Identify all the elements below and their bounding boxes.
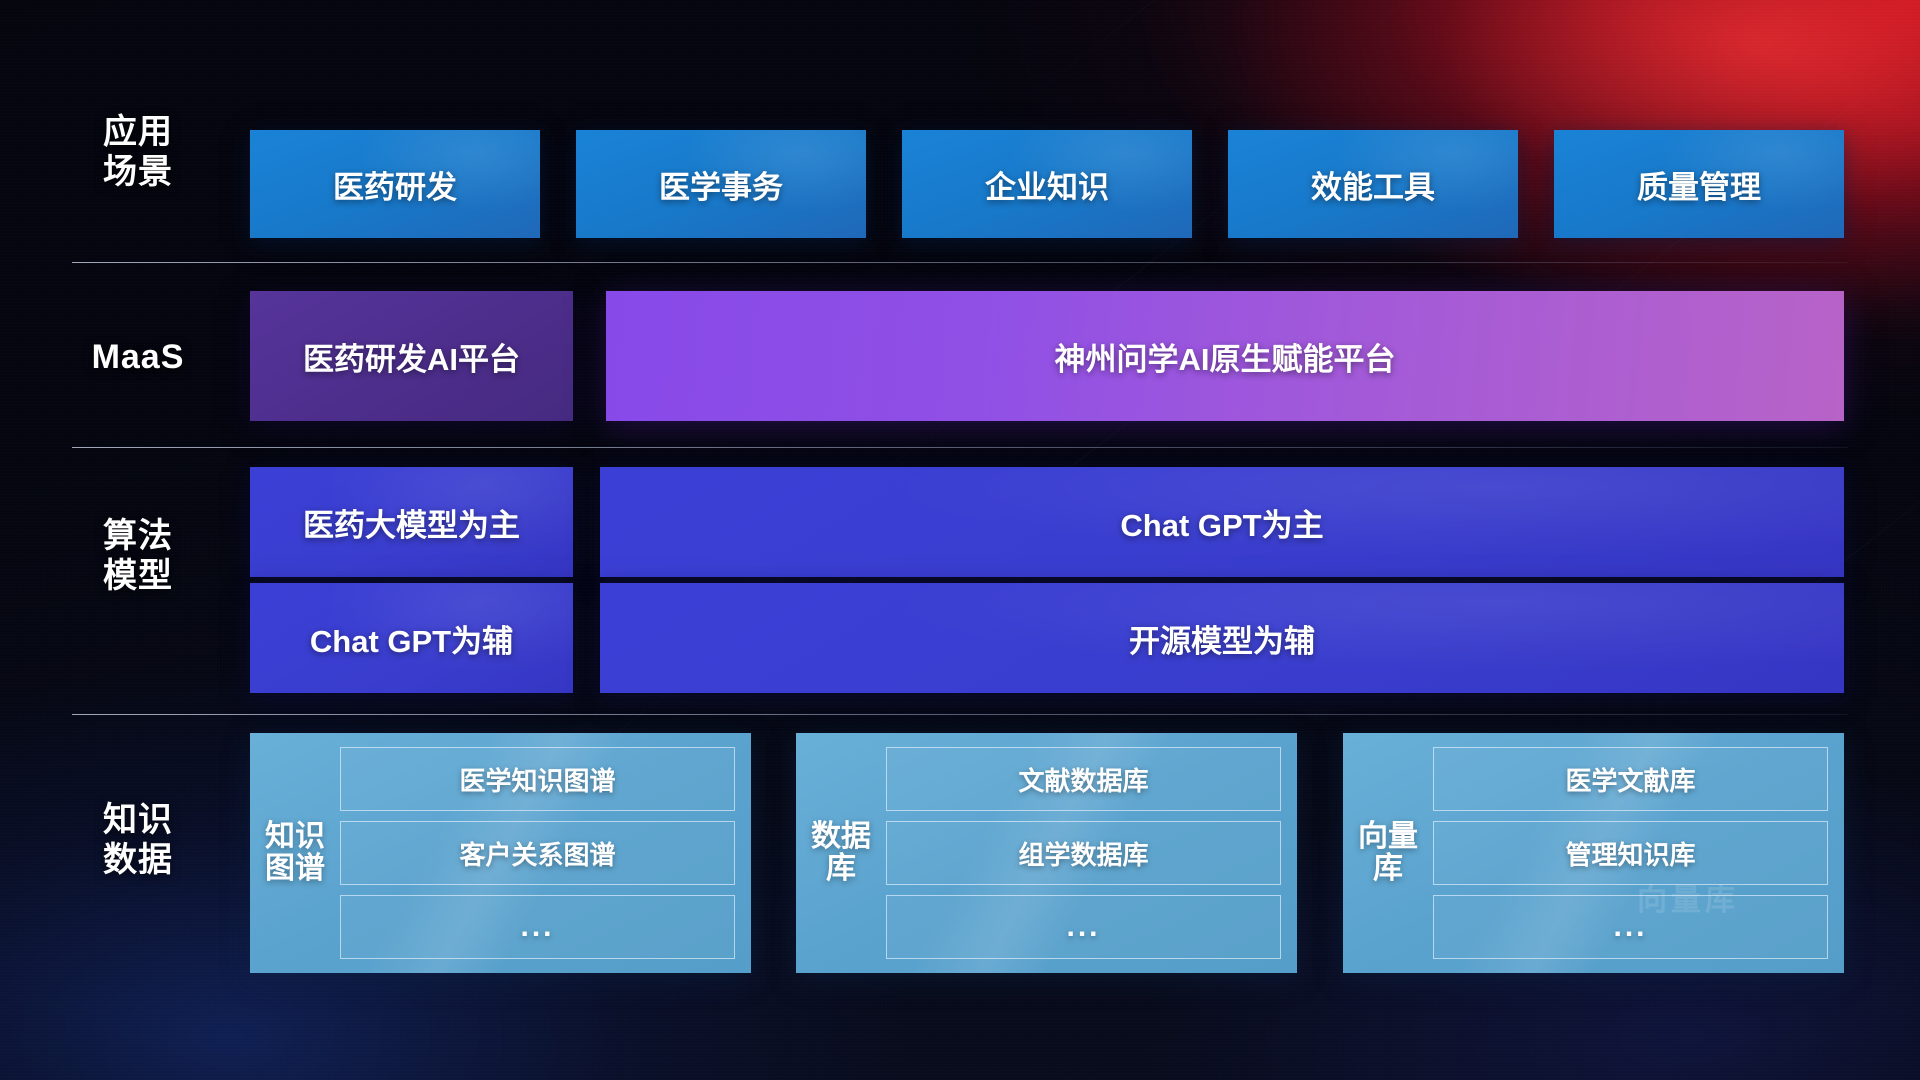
knowledge-group-database-label: 数据库: [810, 747, 872, 959]
knowledge-group-database-items: 文献数据库 组学数据库 ...: [886, 747, 1281, 959]
algorithm-box-row1-left-label: 医药大模型为主: [303, 500, 520, 545]
architecture-diagram: 应用 场景 医药研发 医学事务 企业知识 效能工具 质量管理 MaaS 医药研发…: [0, 0, 1920, 1080]
knowledge-item-database-1[interactable]: 文献数据库: [886, 747, 1281, 811]
algorithm-box-row2-right-label: 开源模型为辅: [1129, 616, 1315, 661]
knowledge-item-graph-2[interactable]: 客户关系图谱: [340, 821, 735, 885]
scenario-box-5-label: 质量管理: [1637, 162, 1761, 207]
knowledge-item-vector-3[interactable]: ...: [1433, 895, 1828, 959]
divider-algorithm-knowledge: [72, 714, 1848, 715]
knowledge-group-graph-label: 知识图谱: [264, 747, 326, 959]
scenario-box-1-label: 医药研发: [333, 162, 457, 207]
scenario-box-4-label: 效能工具: [1311, 162, 1435, 207]
scenario-box-1[interactable]: 医药研发: [250, 130, 540, 238]
row-label-knowledge: 知识 数据: [72, 800, 204, 880]
algorithm-box-row2-left[interactable]: Chat GPT为辅: [250, 583, 573, 693]
knowledge-item-database-2[interactable]: 组学数据库: [886, 821, 1281, 885]
algorithm-box-row1-left[interactable]: 医药大模型为主: [250, 467, 573, 577]
scenario-box-2-label: 医学事务: [659, 162, 783, 207]
algorithm-box-row2-right[interactable]: 开源模型为辅: [600, 583, 1844, 693]
knowledge-group-vector-items: 医学文献库 管理知识库 ...: [1433, 747, 1828, 959]
row-label-maas: MaaS: [72, 337, 204, 377]
knowledge-item-graph-3[interactable]: ...: [340, 895, 735, 959]
algorithm-box-row2-left-label: Chat GPT为辅: [310, 616, 513, 661]
divider-maas-algorithm: [72, 447, 1848, 448]
scenario-box-3-label: 企业知识: [985, 162, 1109, 207]
knowledge-group-graph-items: 医学知识图谱 客户关系图谱 ...: [340, 747, 735, 959]
row-label-algorithm: 算法 模型: [72, 516, 204, 596]
scenario-box-5[interactable]: 质量管理: [1554, 130, 1844, 238]
maas-box-shenzhou-platform-label: 神州问学AI原生赋能平台: [1055, 334, 1396, 379]
knowledge-group-vector-label: 向量库: [1357, 747, 1419, 959]
knowledge-item-vector-1[interactable]: 医学文献库: [1433, 747, 1828, 811]
divider-scenario-maas: [72, 262, 1848, 263]
knowledge-group-vector[interactable]: 向量库 医学文献库 管理知识库 ...: [1343, 733, 1844, 973]
knowledge-group-database[interactable]: 数据库 文献数据库 组学数据库 ...: [796, 733, 1297, 973]
knowledge-item-graph-1[interactable]: 医学知识图谱: [340, 747, 735, 811]
algorithm-box-row1-right-label: Chat GPT为主: [1120, 500, 1323, 545]
knowledge-item-vector-2[interactable]: 管理知识库: [1433, 821, 1828, 885]
scenario-box-3[interactable]: 企业知识: [902, 130, 1192, 238]
maas-box-shenzhou-platform[interactable]: 神州问学AI原生赋能平台: [606, 291, 1844, 421]
maas-box-pharma-platform-label: 医药研发AI平台: [303, 334, 520, 379]
scenario-box-2[interactable]: 医学事务: [576, 130, 866, 238]
knowledge-group-graph[interactable]: 知识图谱 医学知识图谱 客户关系图谱 ...: [250, 733, 751, 973]
scenario-box-4[interactable]: 效能工具: [1228, 130, 1518, 238]
algorithm-box-row1-right[interactable]: Chat GPT为主: [600, 467, 1844, 577]
knowledge-item-database-3[interactable]: ...: [886, 895, 1281, 959]
row-label-scenario: 应用 场景: [72, 112, 204, 192]
maas-box-pharma-platform[interactable]: 医药研发AI平台: [250, 291, 573, 421]
